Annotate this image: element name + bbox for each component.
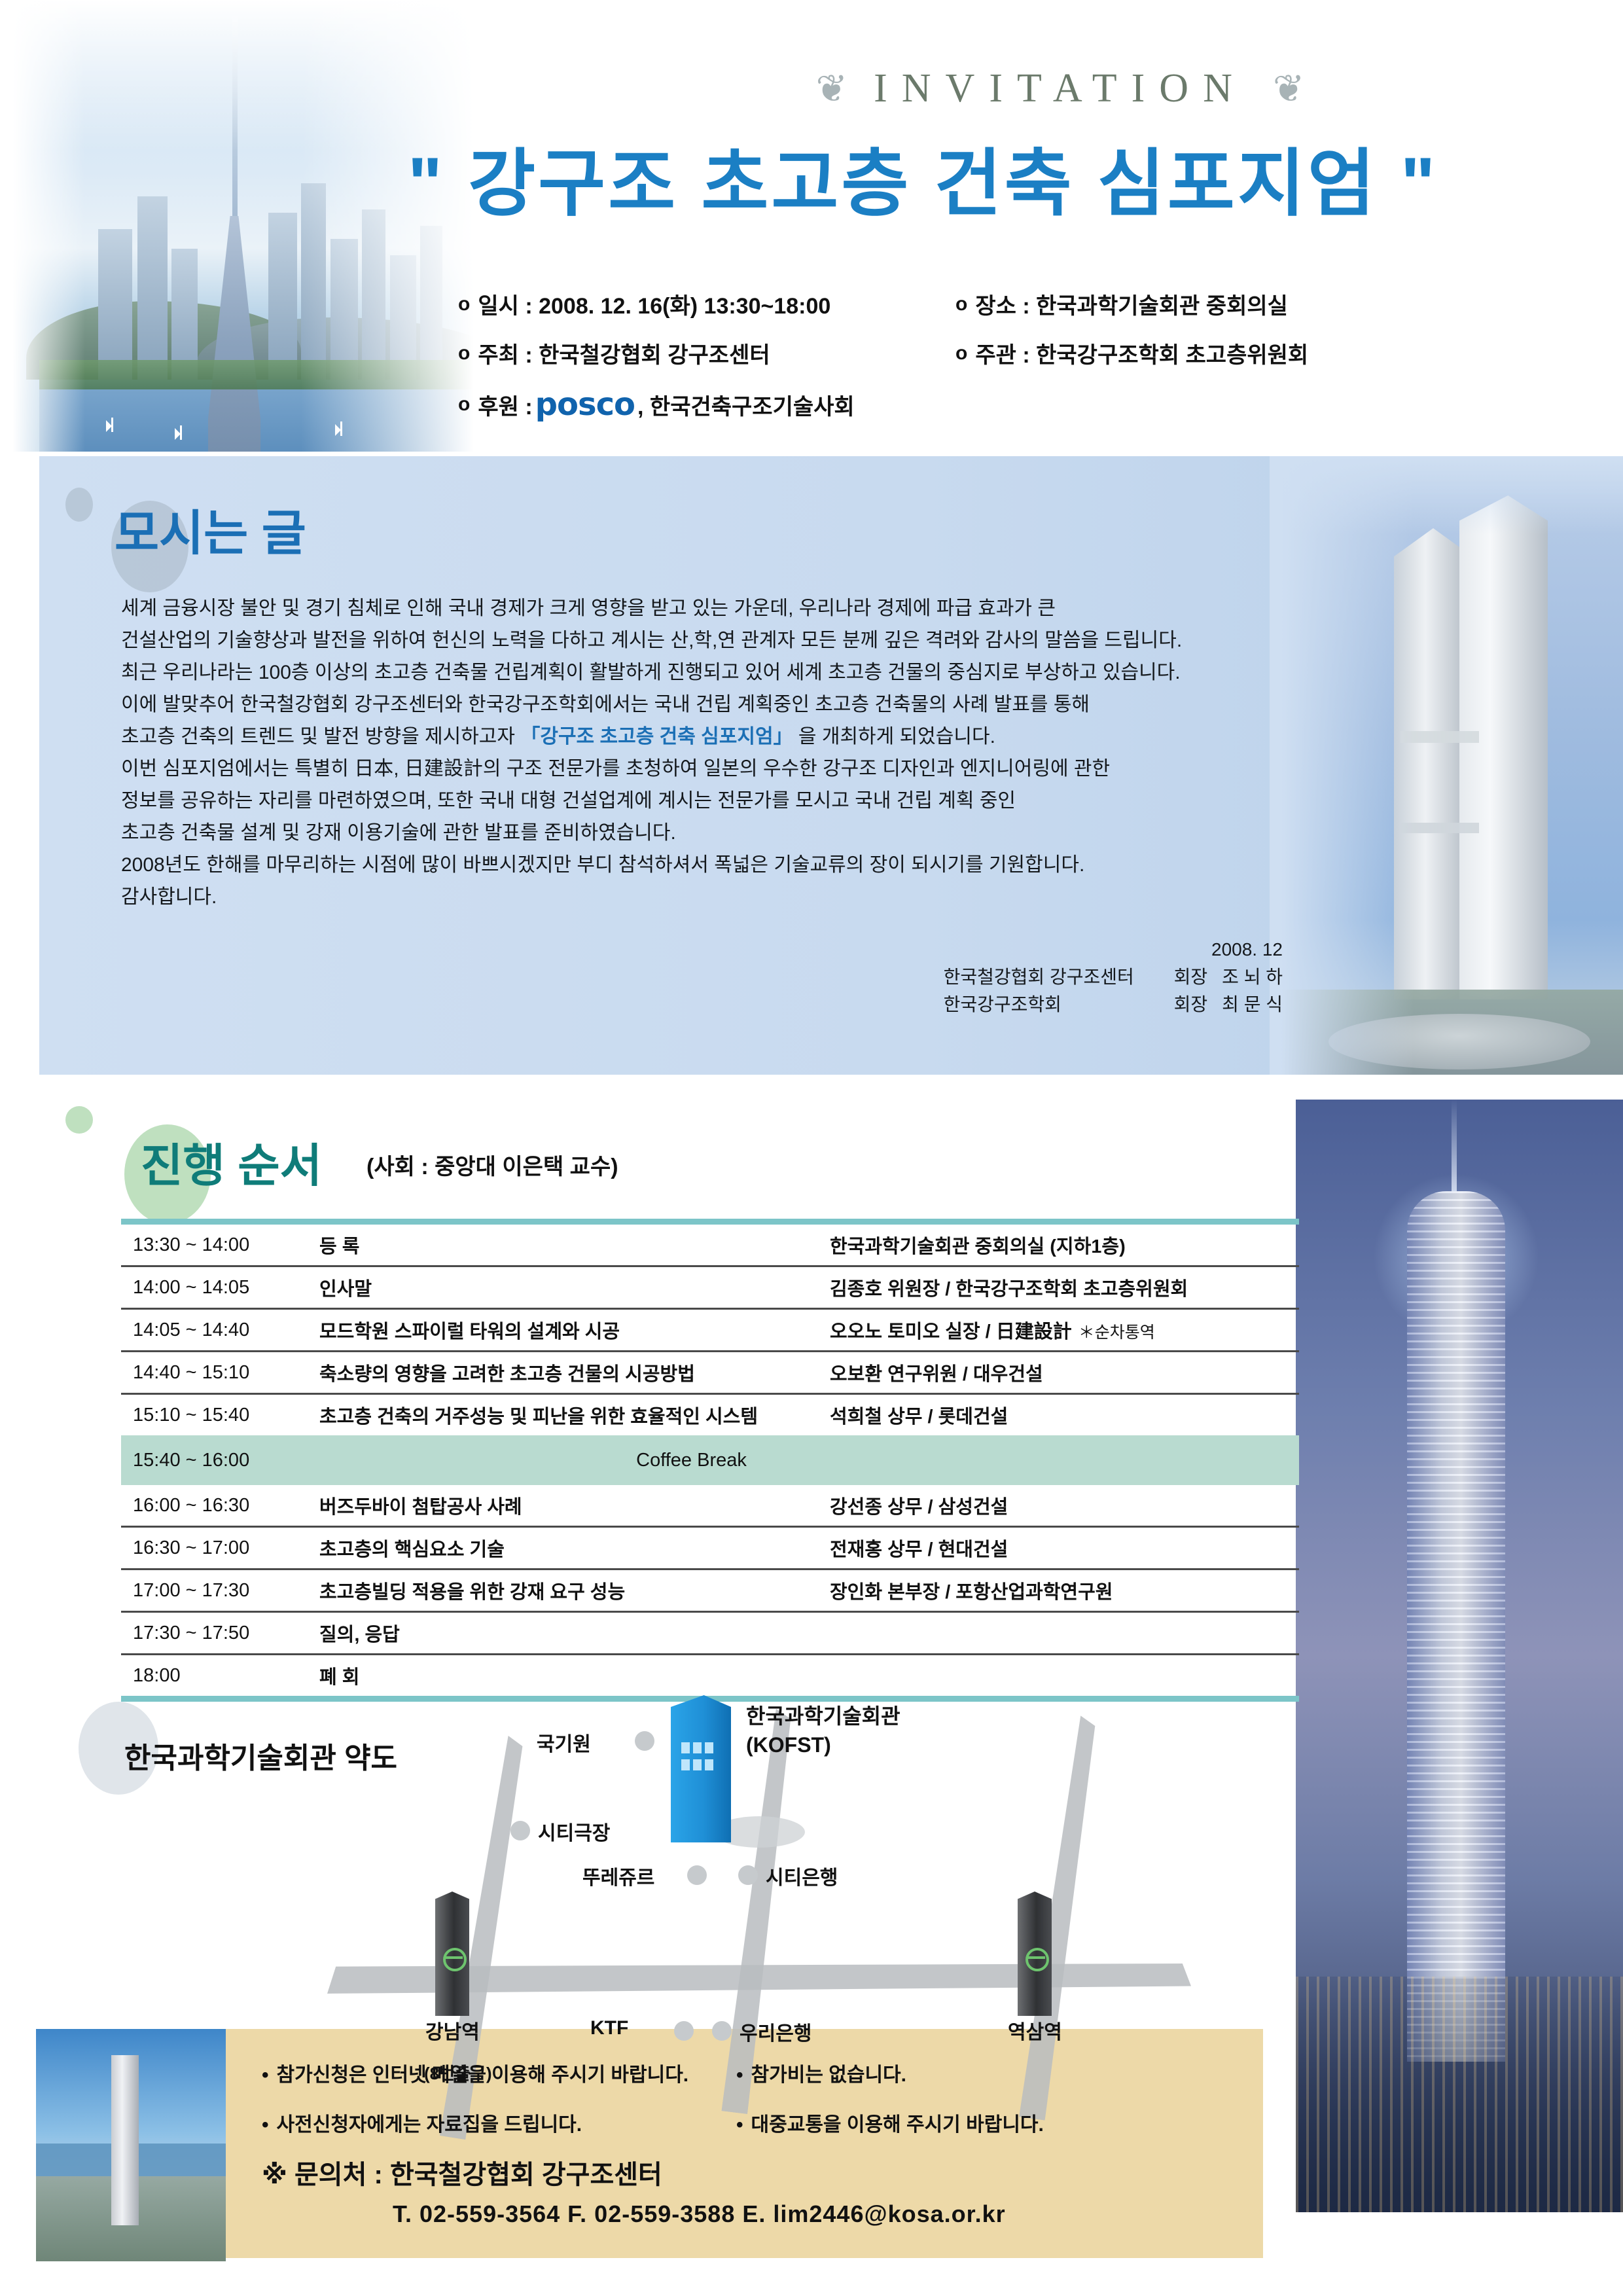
signature-date: 2008. 12 — [903, 936, 1283, 963]
row-time: 15:40 ~ 16:00 — [121, 1450, 319, 1471]
night-tower-photo — [1296, 1100, 1623, 2212]
table-row: 16:00 ~ 16:30 버즈두바이 첨탑공사 사례 강선종 상무 / 삼성건… — [121, 1485, 1299, 1526]
row-time: 18:00 — [121, 1665, 319, 1687]
bullet-icon: • — [262, 2114, 269, 2136]
map-poi-dot — [738, 1865, 758, 1885]
table-row-break: 15:40 ~ 16:00 Coffee Break — [121, 1435, 1299, 1485]
map-label-gukgiwon: 국기원 — [537, 1728, 591, 1757]
row-person: 김종호 위원장 / 한국강구조학회 초고층위원회 — [830, 1274, 1299, 1301]
greeting-title: 모시는 글 — [115, 494, 306, 564]
meta-item-venue: o 장소 : 한국과학기술회관 중회의실 — [955, 288, 1453, 320]
program-moderator: (사회 : 중앙대 이은택 교수) — [366, 1149, 618, 1181]
footer-note: •참가신청은 인터넷 메일을 이용해 주시기 바랍니다. — [262, 2058, 736, 2087]
row-topic: 인사말 — [319, 1274, 830, 1301]
kofst-building-icon — [671, 1695, 731, 1842]
meta-item-organizer: o 주관 : 한국강구조학회 초고층위원회 — [955, 337, 1453, 369]
footer-tower-thumbnail — [36, 2029, 226, 2261]
bullet-icon: • — [736, 2064, 743, 2086]
subway-station-yeoksam-icon — [1018, 1892, 1052, 2016]
row-time: 16:00 ~ 16:30 — [121, 1495, 319, 1516]
signatory-row: 한국강구조학회 회장 최 문 식 — [903, 991, 1283, 1018]
map-poi-dot — [687, 1865, 707, 1885]
row-time: 14:00 ~ 14:05 — [121, 1277, 319, 1299]
kofst-name: 한국과학기술회관 — [746, 1702, 901, 1731]
footer-note-text: 참가신청은 인터넷 메일을 이용해 주시기 바랍니다. — [277, 2064, 689, 2086]
greeting-line: 정보를 공유하는 자리를 마련하였으며, 또한 국내 대형 건설업계에 계시는 … — [121, 785, 1273, 817]
bullet-mark: o — [458, 342, 470, 365]
meta-host-label: 주최 : 한국철강협회 강구조센터 — [478, 337, 770, 369]
footer-contact-details[interactable]: T. 02-559-3564 F. 02-559-3588 E. lim2446… — [393, 2200, 1006, 2228]
footer-note-row: •사전신청자에게는 자료집을 드립니다. •대중교통을 이용해 주시기 바랍니다… — [262, 2108, 1211, 2137]
map-label-citibank: 시티은행 — [766, 1861, 838, 1890]
footer-note-text: 대중교통을 이용해 주시기 바랍니다. — [751, 2114, 1044, 2136]
row-person: 장인화 본부장 / 포항산업과학연구원 — [830, 1577, 1299, 1604]
bullet-icon: • — [736, 2114, 743, 2136]
row-topic: 축소량의 영향을 고려한 초고층 건물의 시공방법 — [319, 1359, 830, 1386]
decor-dot-green — [65, 1106, 93, 1134]
signatory-role: 회장 — [1174, 963, 1208, 991]
kofst-label: 한국과학기술회관 (KOFST) — [746, 1702, 901, 1759]
greeting-tower-photo — [1270, 456, 1623, 1075]
greeting-line: 초고층 건축물 설계 및 강재 이용기술에 관한 발표를 준비하였습니다. — [121, 817, 1273, 849]
sponsor-prefix-label: 후원 : — [478, 389, 532, 421]
posco-logo: posco — [535, 386, 635, 423]
meta-organizer-label: 주관 : 한국강구조학회 초고층위원회 — [975, 337, 1308, 369]
map-label-gangnam-station: 강남역 — [425, 2016, 480, 2045]
symposium-title-highlight: 「강구조 초고층 건축 심포지엄」 — [520, 726, 793, 747]
header-skyline-photo — [0, 0, 497, 452]
signatory-name: 조 뇌 하 — [1222, 963, 1283, 991]
flourish-right-icon: ❦ — [1273, 66, 1305, 111]
footer-note-text: 사전신청자에게는 자료집을 드립니다. — [277, 2114, 582, 2136]
meta-item-sponsor: o 후원 : posco , 한국건축구조기술사회 — [458, 386, 1243, 423]
event-meta-block: o 일시 : 2008. 12. 16(화) 13:30~18:00 o 장소 … — [458, 288, 1479, 440]
table-row: 14:40 ~ 15:10 축소량의 영향을 고려한 초고층 건물의 시공방법 … — [121, 1352, 1299, 1393]
map-poi-dot — [510, 1821, 530, 1840]
bullet-mark: o — [458, 293, 470, 315]
table-row: 15:10 ~ 15:40 초고층 건축의 거주성능 및 피난을 위한 효율적인… — [121, 1395, 1299, 1435]
footer-notes: •참가신청은 인터넷 메일을 이용해 주시기 바랍니다. •참가비는 없습니다.… — [262, 2058, 1211, 2158]
map-poi-dot — [635, 1731, 654, 1751]
meta-row: o 주최 : 한국철강협회 강구조센터 o 주관 : 한국강구조학회 초고층위원… — [458, 337, 1479, 369]
highlight-after: 을 개최하게 되었습니다. — [793, 726, 995, 747]
highlight-before: 초고층 건축의 트렌드 및 발전 방향을 제시하고자 — [121, 726, 520, 747]
greeting-line: 이에 발맞추어 한국철강협회 강구조센터와 한국강구조학회에서는 국내 건립 계… — [121, 689, 1273, 721]
row-time: 16:30 ~ 17:00 — [121, 1537, 319, 1559]
table-row: 13:30 ~ 14:00 등 록 한국과학기술회관 중회의실 (지하1층) — [121, 1225, 1299, 1265]
subway-station-gangnam-icon — [435, 1892, 469, 2016]
greeting-signature: 2008. 12 한국철강협회 강구조센터 회장 조 뇌 하 한국강구조학회 회… — [903, 936, 1283, 1018]
row-topic: 모드학원 스파이럴 타워의 설계와 시공 — [319, 1316, 830, 1344]
bullet-mark: o — [458, 393, 470, 416]
row-person: 강선종 상무 / 삼성건설 — [830, 1492, 1299, 1519]
table-row: 17:00 ~ 17:30 초고층빌딩 적용을 위한 강재 요구 성능 장인화 … — [121, 1570, 1299, 1611]
meta-item-host: o 주최 : 한국철강협회 강구조센터 — [458, 337, 955, 369]
map-label-citytheater: 시티극장 — [538, 1817, 610, 1846]
map-label-yeoksam-station: 역삼역 — [1008, 2016, 1062, 2045]
meta-item-date: o 일시 : 2008. 12. 16(화) 13:30~18:00 — [458, 288, 955, 320]
row-person: 오보환 연구위원 / 대우건설 — [830, 1359, 1299, 1386]
row-time: 14:05 ~ 14:40 — [121, 1319, 319, 1341]
footer-note: •대중교통을 이용해 주시기 바랍니다. — [736, 2108, 1211, 2137]
signatory-org: 한국강구조학회 — [944, 991, 1160, 1018]
row-topic: 버즈두바이 첨탑공사 사례 — [319, 1492, 830, 1519]
row-person: 전재홍 상무 / 현대건설 — [830, 1534, 1299, 1562]
greeting-line: 건설산업의 기술향상과 발전을 위하여 헌신의 노력을 다하고 계시는 산,학,… — [121, 624, 1273, 656]
row-time: 15:10 ~ 15:40 — [121, 1405, 319, 1426]
signatory-role: 회장 — [1174, 991, 1208, 1018]
row-topic: 등 록 — [319, 1231, 830, 1259]
greeting-line-highlight: 초고층 건축의 트렌드 및 발전 방향을 제시하고자 「강구조 초고층 건축 심… — [121, 721, 1273, 753]
row-person-text: 오오노 토미오 실장 / 日建設計 — [830, 1321, 1072, 1342]
greeting-line: 이번 심포지엄에서는 특별히 日本, 日建設計의 구조 전문가를 초청하여 일본… — [121, 753, 1273, 785]
program-title: 진행 순서 — [141, 1129, 322, 1195]
schedule-top-rule — [121, 1219, 1299, 1225]
map-label-ktf: KTF — [590, 2017, 628, 2039]
footer-note-text: 참가비는 없습니다. — [751, 2064, 906, 2086]
greeting-line: 최근 우리나라는 100층 이상의 초고층 건축물 건립계획이 활발하게 진행되… — [121, 656, 1273, 689]
meta-row: o 일시 : 2008. 12. 16(화) 13:30~18:00 o 장소 … — [458, 288, 1479, 320]
row-time: 17:30 ~ 17:50 — [121, 1623, 319, 1644]
decor-dot-small — [65, 488, 93, 522]
header-section: ❦ INVITATION ❦ " 강구조 초고층 건축 심포지엄 " o 일시 … — [0, 0, 1623, 458]
invitation-banner: ❦ INVITATION ❦ — [497, 52, 1623, 124]
bullet-icon: • — [262, 2064, 269, 2086]
row-topic: 초고층의 핵심요소 기술 — [319, 1534, 830, 1562]
table-row: 14:00 ~ 14:05 인사말 김종호 위원장 / 한국강구조학회 초고층위… — [121, 1267, 1299, 1308]
map-road-vertical — [721, 1708, 796, 2114]
bullet-mark: o — [955, 293, 967, 315]
row-person: 한국과학기술회관 중회의실 (지하1층) — [830, 1231, 1299, 1259]
meta-row-sponsor: o 후원 : posco , 한국건축구조기술사회 — [458, 386, 1479, 423]
row-person-note: ＊순차통역 — [1079, 1323, 1155, 1342]
row-topic: 초고층 건축의 거주성능 및 피난을 위한 효율적인 시스템 — [319, 1401, 830, 1429]
table-row: 14:05 ~ 14:40 모드학원 스파이럴 타워의 설계와 시공 오오노 토… — [121, 1310, 1299, 1350]
map-label-wooribank: 우리은행 — [740, 2017, 811, 2046]
greeting-line: 감사합니다. — [121, 881, 1273, 913]
greeting-line: 세계 금융시장 불안 및 경기 침체로 인해 국내 경제가 크게 영향을 받고 … — [121, 592, 1273, 624]
map-poi-dot — [674, 2021, 694, 2041]
row-break-label: Coffee Break — [319, 1450, 1299, 1471]
footer-note: •참가비는 없습니다. — [736, 2058, 1211, 2087]
footer-note: •사전신청자에게는 자료집을 드립니다. — [262, 2108, 736, 2137]
flourish-left-icon: ❦ — [816, 66, 848, 111]
meta-date-label: 일시 : 2008. 12. 16(화) 13:30~18:00 — [478, 288, 830, 320]
page-title: " 강구조 초고층 건축 심포지엄 " — [366, 124, 1479, 216]
kofst-abbrev: (KOFST) — [746, 1731, 901, 1759]
map-label-tousjours: 뚜레쥬르 — [582, 1861, 654, 1890]
row-topic: 초고층빌딩 적용을 위한 강재 요구 성능 — [319, 1577, 830, 1604]
row-time: 13:30 ~ 14:00 — [121, 1234, 319, 1256]
signatory-name: 최 문 식 — [1222, 991, 1283, 1018]
row-topic: 질의, 응답 — [319, 1619, 830, 1647]
signatory-row: 한국철강협회 강구조센터 회장 조 뇌 하 — [903, 963, 1283, 991]
footer-note-row: •참가신청은 인터넷 메일을 이용해 주시기 바랍니다. •참가비는 없습니다. — [262, 2058, 1211, 2087]
map-poi-dot — [712, 2021, 732, 2041]
signatory-org: 한국철강협회 강구조센터 — [944, 963, 1160, 991]
row-person: 오오노 토미오 실장 / 日建設計＊순차통역 — [830, 1316, 1299, 1344]
greeting-line: 2008년도 한해를 마무리하는 시점에 많이 바쁘시겠지만 부디 참석하셔서 … — [121, 849, 1273, 881]
table-row: 17:30 ~ 17:50 질의, 응답 — [121, 1613, 1299, 1653]
row-person: 석희철 상무 / 롯데건설 — [830, 1401, 1299, 1429]
row-time: 17:00 ~ 17:30 — [121, 1580, 319, 1602]
greeting-body: 세계 금융시장 불안 및 경기 침체로 인해 국내 경제가 크게 영향을 받고 … — [121, 592, 1273, 913]
bullet-mark: o — [955, 342, 967, 365]
sponsor-suffix-label: , 한국건축구조기술사회 — [637, 389, 855, 421]
invitation-label: INVITATION — [874, 65, 1247, 112]
table-row: 16:30 ~ 17:00 초고층의 핵심요소 기술 전재홍 상무 / 현대건설 — [121, 1528, 1299, 1568]
row-time: 14:40 ~ 15:10 — [121, 1362, 319, 1384]
footer-contact-label: ※ 문의처 : 한국철강협회 강구조센터 — [262, 2153, 662, 2191]
meta-venue-label: 장소 : 한국과학기술회관 중회의실 — [975, 288, 1288, 320]
schedule-table: 13:30 ~ 14:00 등 록 한국과학기술회관 중회의실 (지하1층) 1… — [121, 1219, 1299, 1702]
